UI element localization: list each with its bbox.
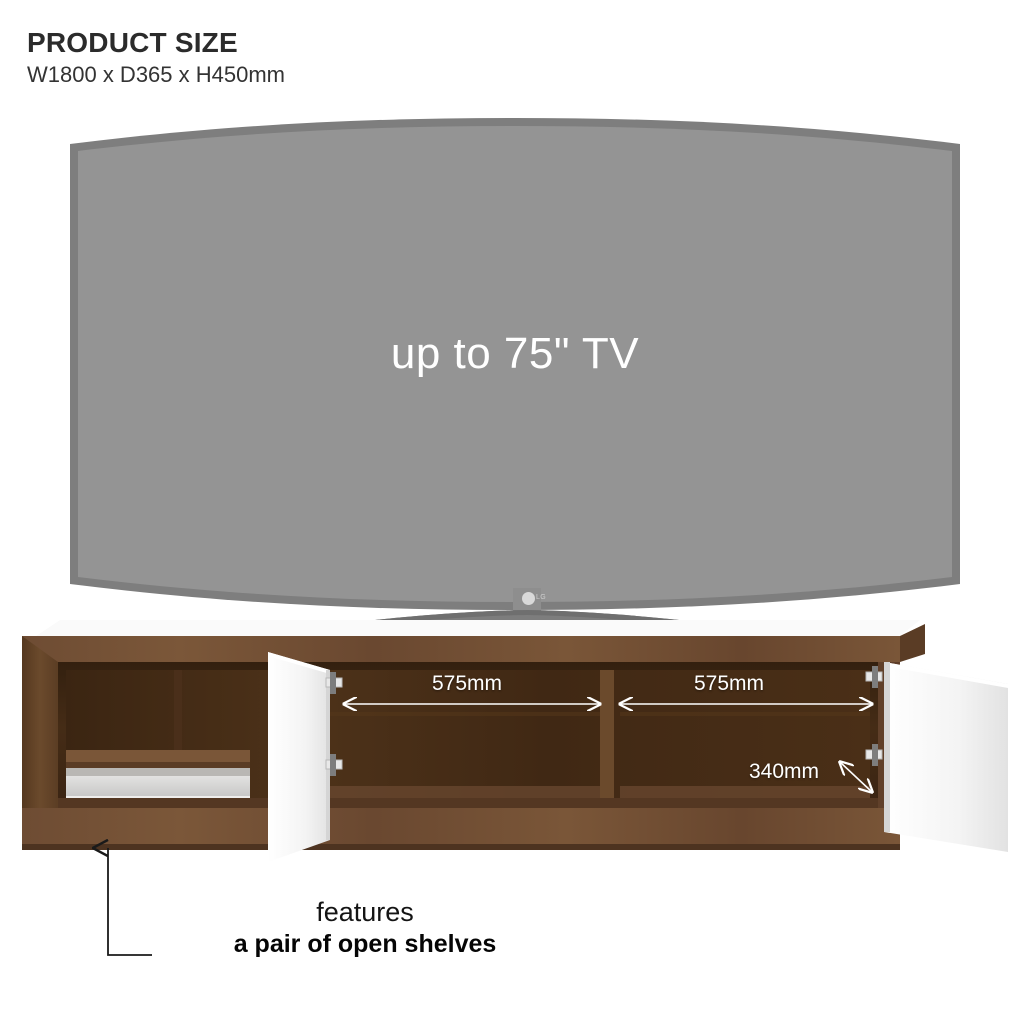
tv-cabinet	[0, 600, 1024, 900]
shelf-reflection	[66, 776, 250, 796]
dimension-label-depth: 340mm	[749, 760, 819, 784]
right-door[interactable]	[884, 662, 1008, 852]
center-divider-shadow	[614, 670, 620, 798]
callout-block: features a pair of open shelves	[150, 898, 580, 958]
cabinet-plinth-shadow	[22, 844, 900, 850]
cabinet-plinth	[22, 808, 900, 850]
left-door[interactable]	[268, 652, 330, 862]
page-title: PRODUCT SIZE	[27, 28, 285, 57]
dimension-label-right: 575mm	[694, 672, 764, 696]
callout-line-2: a pair of open shelves	[150, 930, 580, 959]
product-dimensions-text: W1800 x D365 x H450mm	[27, 63, 285, 87]
product-diagram: PRODUCT SIZE W1800 x D365 x H450mm up to…	[0, 0, 1024, 1024]
tv-screen	[70, 118, 960, 610]
cabinet-top-rail	[22, 636, 900, 662]
dimension-label-left: 575mm	[432, 672, 502, 696]
callout-line-1: features	[150, 898, 580, 928]
cabinet-toe-recess	[58, 798, 878, 808]
header-block: PRODUCT SIZE W1800 x D365 x H450mm	[27, 28, 285, 88]
television: up to 75" TV LG	[70, 118, 960, 618]
center-divider	[600, 670, 614, 798]
